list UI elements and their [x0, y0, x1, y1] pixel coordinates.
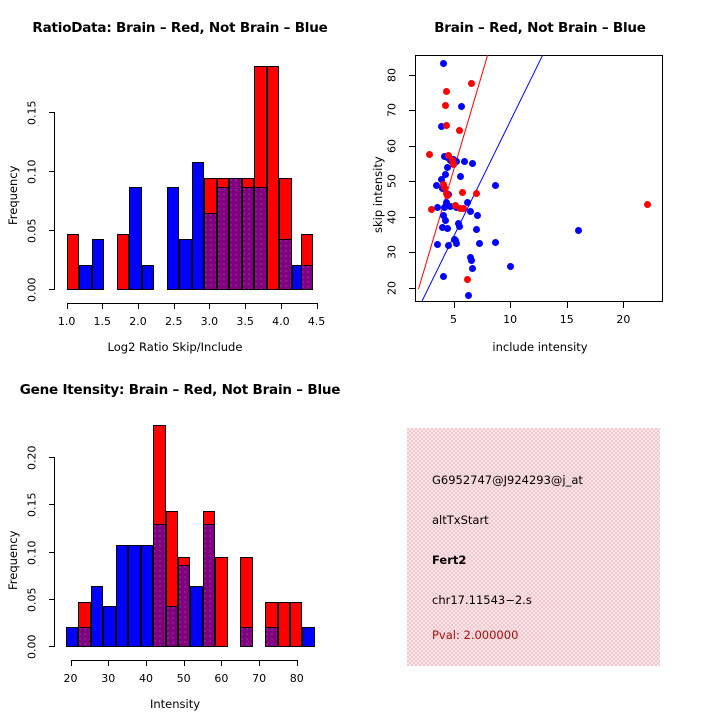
x-axis-tick-label: 4.5 — [297, 315, 337, 328]
histogram-bar — [117, 234, 130, 290]
histogram-bar-overlap — [203, 524, 215, 647]
x-axis-tick-label: 5 — [434, 313, 474, 326]
y-axis-tick-label: 0.20 — [19, 442, 45, 474]
scatter-point — [457, 173, 464, 180]
y-axis-tick — [49, 171, 55, 172]
x-axis-tick — [454, 302, 455, 308]
x-axis-tick — [209, 303, 210, 309]
histogram-bar-overlap — [279, 239, 292, 290]
histogram-bar-overlap — [153, 524, 165, 647]
y-axis-tick-label: 40 — [379, 201, 405, 233]
y-axis-tick-label: 0.10 — [19, 156, 45, 188]
histogram-bar — [141, 545, 153, 647]
scatter-point — [473, 190, 480, 197]
scatter-point — [440, 273, 447, 280]
x-axis-tick — [67, 303, 68, 309]
annotation-box: G6952747@J924293@j_at altTxStart Fert2 c… — [407, 428, 660, 666]
histogram-bar — [192, 162, 205, 290]
x-axis-tick-label: 2.0 — [118, 315, 158, 328]
ratio-plot-bars — [63, 60, 313, 290]
histogram-bar — [129, 187, 142, 290]
x-axis-tick — [221, 660, 222, 666]
x-axis-tick — [281, 303, 282, 309]
panel-annotation: G6952747@J924293@j_at altTxStart Fert2 c… — [360, 360, 720, 720]
x-axis-tick-label: 20 — [603, 313, 643, 326]
scatter-point — [467, 208, 474, 215]
y-axis-tick — [49, 599, 55, 600]
scatter-point — [468, 80, 475, 87]
histogram-bar-overlap — [217, 187, 230, 290]
x-axis-tick — [146, 660, 147, 666]
x-axis-tick-label: 1.0 — [47, 315, 87, 328]
y-axis-tick-label: 80 — [379, 59, 405, 91]
scatter-point — [507, 263, 514, 270]
x-axis-tick — [108, 660, 109, 666]
scatter-point — [473, 226, 480, 233]
y-axis-tick — [409, 288, 415, 289]
histogram-bar — [79, 265, 92, 290]
y-axis-tick-label: 0.10 — [19, 537, 45, 569]
histogram-bar — [278, 602, 290, 647]
gene-histogram-xlabel: Intensity — [60, 697, 290, 711]
x-axis-tick — [317, 303, 318, 309]
scatter-point — [474, 212, 481, 219]
regression-line — [418, 55, 488, 289]
histogram-bar — [167, 187, 180, 290]
y-axis-tick-label: 0.15 — [19, 97, 45, 129]
scatter-point — [461, 158, 468, 165]
gene-histogram-plot-area: 0.000.050.100.150.2020304050607080 — [63, 425, 310, 647]
y-axis-tick — [49, 552, 55, 553]
x-axis-tick-label: 70 — [239, 672, 279, 685]
histogram-bar — [142, 265, 155, 290]
gene-histogram-ylabel: Frequency — [6, 515, 20, 605]
x-axis-tick-label: 10 — [490, 313, 530, 326]
scatter-point — [456, 223, 463, 230]
scatter-point — [575, 227, 582, 234]
annotation-pval: Pval: 2.000000 — [432, 628, 518, 642]
x-axis-tick-label: 80 — [277, 672, 317, 685]
histogram-bar — [66, 627, 78, 647]
histogram-bar — [103, 606, 115, 647]
annotation-gene-symbol: Fert2 — [432, 553, 466, 567]
x-axis-tick-label: 15 — [547, 313, 587, 326]
scatter-data-layer — [415, 55, 663, 302]
gene-plot-bars — [63, 425, 310, 647]
scatter-point — [469, 160, 476, 167]
figure-canvas: RatioData: Brain – Red, Not Brain – Blue… — [0, 0, 720, 720]
y-axis-tick — [49, 646, 55, 647]
x-axis-tick-label: 1.5 — [82, 315, 122, 328]
x-axis-line — [67, 303, 317, 304]
y-axis-tick-label: 0.15 — [19, 489, 45, 521]
annotation-locus: chr17.11543−2.s — [432, 593, 532, 607]
scatter-point — [464, 276, 471, 283]
x-axis-tick — [623, 302, 624, 308]
x-axis-tick — [567, 302, 568, 308]
scatter-point — [644, 201, 651, 208]
scatter-point — [492, 182, 499, 189]
histogram-bar — [128, 545, 140, 647]
x-axis-tick-label: 50 — [164, 672, 204, 685]
histogram-bar — [190, 586, 202, 647]
scatter-point — [444, 225, 451, 232]
histogram-bar-overlap — [265, 627, 277, 647]
x-axis-tick-label: 2.5 — [154, 315, 194, 328]
scatter-point — [443, 88, 450, 95]
x-axis-tick — [259, 660, 260, 666]
scatter-point — [443, 122, 450, 129]
x-axis-tick — [102, 303, 103, 309]
x-axis-tick-label: 4.0 — [261, 315, 301, 328]
y-axis-tick — [409, 181, 415, 182]
scatter-point — [442, 217, 449, 224]
scatter-point — [440, 60, 447, 67]
scatter-title: Brain – Red, Not Brain – Blue — [360, 20, 720, 36]
y-axis-tick — [409, 217, 415, 218]
ratio-histogram-plot-area: 0.000.050.100.151.01.52.02.53.03.54.04.5 — [63, 60, 313, 290]
histogram-bar — [179, 239, 192, 290]
histogram-bar — [67, 234, 80, 290]
panel-ratio-histogram: RatioData: Brain – Red, Not Brain – Blue… — [0, 0, 360, 360]
histogram-bar — [215, 557, 227, 647]
histogram-bar-overlap — [78, 627, 90, 647]
ratio-histogram-title: RatioData: Brain – Red, Not Brain – Blue — [0, 20, 360, 36]
scatter-xlabel: include intensity — [420, 340, 660, 354]
annotation-probe-id: G6952747@J924293@j_at — [432, 473, 583, 487]
x-axis-tick-label: 40 — [126, 672, 166, 685]
ratio-histogram-ylabel: Frequency — [6, 150, 20, 240]
y-axis-tick-label: 70 — [379, 94, 405, 126]
x-axis-tick — [138, 303, 139, 309]
annotation-event-type: altTxStart — [432, 513, 489, 527]
y-axis-tick-label: 30 — [379, 236, 405, 268]
scatter-point — [458, 103, 465, 110]
scatter-point — [442, 102, 449, 109]
x-axis-tick-label: 3.0 — [189, 315, 229, 328]
histogram-bar-overlap — [204, 213, 217, 290]
histogram-bar-overlap — [242, 187, 255, 290]
histogram-bar — [92, 239, 105, 290]
scatter-point — [469, 265, 476, 272]
y-axis-tick-label: 60 — [379, 130, 405, 162]
histogram-bar — [302, 627, 314, 647]
histogram-bar-overlap — [229, 178, 242, 290]
y-axis-tick-label: 0.05 — [19, 584, 45, 616]
y-axis-tick — [49, 457, 55, 458]
histogram-bar-overlap — [240, 627, 252, 647]
panel-gene-histogram: Gene Itensity: Brain – Red, Not Brain – … — [0, 360, 360, 720]
histogram-bar-overlap — [166, 606, 178, 647]
scatter-point — [453, 240, 460, 247]
y-axis-tick — [409, 252, 415, 253]
histogram-bar — [116, 545, 128, 647]
scatter-point — [468, 257, 475, 264]
scatter-point — [456, 127, 463, 134]
scatter-point — [492, 239, 499, 246]
scatter-point — [459, 189, 466, 196]
x-axis-tick-label: 20 — [51, 672, 91, 685]
panel-scatter: Brain – Red, Not Brain – Blue skip inten… — [360, 0, 720, 360]
y-axis-line — [54, 113, 55, 290]
x-axis-tick-label: 3.5 — [225, 315, 265, 328]
x-axis-tick — [71, 660, 72, 666]
y-axis-tick-label: 50 — [379, 165, 405, 197]
y-axis-tick — [409, 146, 415, 147]
scatter-plot-area: 203040506070805101520 — [415, 55, 663, 302]
y-axis-tick — [49, 230, 55, 231]
y-axis-tick-label: 20 — [379, 272, 405, 304]
y-axis-tick-label: 0.00 — [19, 631, 45, 663]
y-axis-tick — [409, 110, 415, 111]
x-axis-tick — [174, 303, 175, 309]
scatter-point — [444, 192, 451, 199]
scatter-point — [476, 240, 483, 247]
x-axis-tick — [245, 303, 246, 309]
scatter-point — [434, 241, 441, 248]
scatter-point — [449, 157, 456, 164]
x-axis-tick — [297, 660, 298, 666]
y-axis-tick — [49, 289, 55, 290]
x-axis-tick — [184, 660, 185, 666]
y-axis-tick — [49, 112, 55, 113]
histogram-bar-overlap — [178, 565, 190, 647]
ratio-histogram-xlabel: Log2 Ratio Skip/Include — [60, 340, 290, 354]
scatter-point — [445, 242, 452, 249]
scatter-point — [426, 151, 433, 158]
scatter-point — [428, 206, 435, 213]
y-axis-tick — [409, 75, 415, 76]
y-axis-tick — [49, 504, 55, 505]
histogram-bar — [91, 586, 103, 647]
y-axis-tick-label: 0.00 — [19, 274, 45, 306]
histogram-bar — [290, 602, 302, 647]
scatter-point — [465, 292, 472, 299]
x-axis-tick — [510, 302, 511, 308]
y-axis-tick-label: 0.05 — [19, 215, 45, 247]
histogram-bar — [267, 66, 280, 290]
histogram-bar-overlap — [254, 187, 267, 290]
x-axis-tick-label: 30 — [88, 672, 128, 685]
histogram-bar-overlap — [301, 265, 314, 290]
x-axis-tick-label: 60 — [201, 672, 241, 685]
gene-histogram-title: Gene Itensity: Brain – Red, Not Brain – … — [0, 382, 360, 398]
